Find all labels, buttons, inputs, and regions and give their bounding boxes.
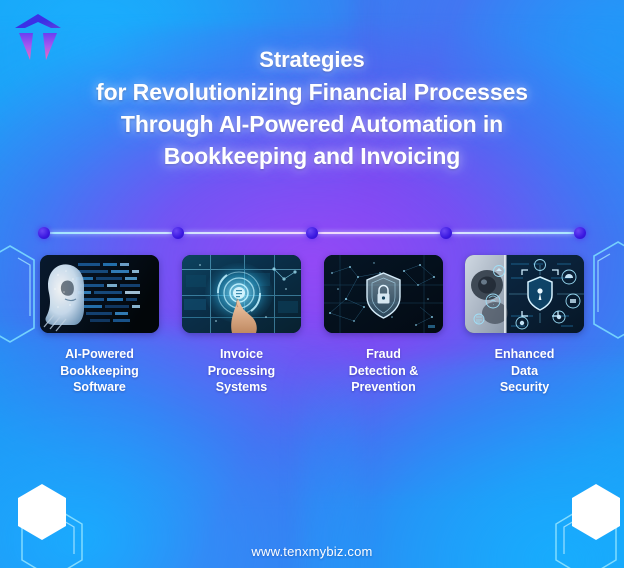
cards-row: AI-Powered Bookkeeping Software	[40, 255, 584, 415]
title-line-3: Through AI-Powered Automation in	[22, 108, 602, 140]
timeline-dot-4	[440, 227, 452, 239]
card-fraud-detection-prevention[interactable]: Fraud Detection & Prevention	[324, 255, 443, 396]
timeline-divider	[44, 232, 580, 234]
card-invoice-processing-systems[interactable]: Invoice Processing Systems	[182, 255, 301, 396]
card-caption-1-line-3: Software	[40, 379, 159, 396]
card-caption-4: Enhanced Data Security	[465, 346, 584, 396]
card-caption-4-line-3: Security	[465, 379, 584, 396]
card-caption-3-line-2: Detection &	[324, 363, 443, 380]
hand-touch-hologram-thumbnail	[182, 255, 301, 333]
card-caption-2-line-1: Invoice	[182, 346, 301, 363]
card-enhanced-data-security[interactable]: Enhanced Data Security	[465, 255, 584, 396]
card-caption-3-line-3: Prevention	[324, 379, 443, 396]
timeline-dot-5	[574, 227, 586, 239]
card-caption-2-line-2: Processing	[182, 363, 301, 380]
card-caption-1-line-2: Bookkeeping	[40, 363, 159, 380]
footer-website-url[interactable]: www.tenxmybiz.com	[0, 544, 624, 560]
card-caption-2: Invoice Processing Systems	[182, 346, 301, 396]
shield-keyhole-icons-thumbnail	[465, 255, 584, 333]
title-line-2: for Revolutionizing Financial Processes	[22, 76, 602, 108]
title-line-4: Bookkeeping and Invoicing	[22, 140, 602, 172]
poster-canvas: Strategies for Revolutionizing Financial…	[0, 0, 624, 568]
title-line-1: Strategies	[22, 44, 602, 76]
card-caption-2-line-3: Systems	[182, 379, 301, 396]
card-caption-4-line-1: Enhanced	[465, 346, 584, 363]
card-caption-3-line-1: Fraud	[324, 346, 443, 363]
card-caption-4-line-2: Data	[465, 363, 584, 380]
shield-lock-network-thumbnail	[324, 255, 443, 333]
card-ai-powered-bookkeeping-software[interactable]: AI-Powered Bookkeeping Software	[40, 255, 159, 396]
card-caption-1-line-1: AI-Powered	[40, 346, 159, 363]
timeline-dot-3	[306, 227, 318, 239]
card-caption-1: AI-Powered Bookkeeping Software	[40, 346, 159, 396]
timeline-dot-2	[172, 227, 184, 239]
hexagon-outline-right	[592, 240, 624, 340]
poster-title: Strategies for Revolutionizing Financial…	[0, 44, 624, 172]
ai-head-data-thumbnail	[40, 255, 159, 333]
card-caption-3: Fraud Detection & Prevention	[324, 346, 443, 396]
timeline-dot-1	[38, 227, 50, 239]
hexagon-outline-left	[0, 244, 36, 344]
